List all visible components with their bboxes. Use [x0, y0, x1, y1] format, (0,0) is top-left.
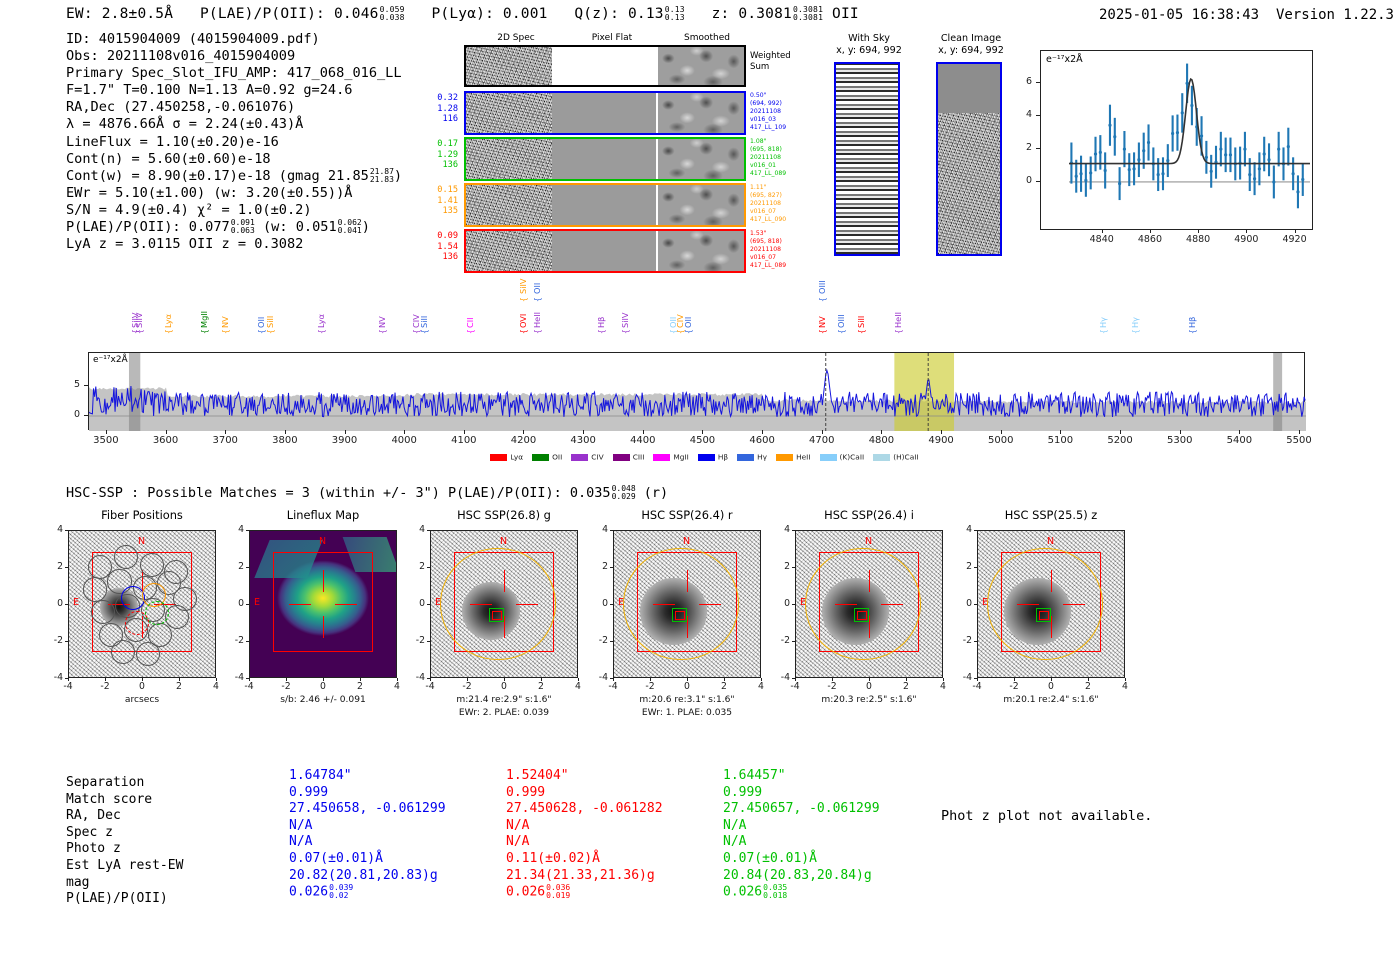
match-value: 0.07(±0.01)Å [289, 851, 446, 868]
match-plae-row: 0.0260.0360.019 [506, 884, 663, 901]
spec-xtick-label: 4200 [501, 435, 545, 446]
match-value: 0.999 [289, 785, 446, 802]
compass-east-label: E [982, 597, 988, 608]
hsc-header-post: (r) [644, 485, 668, 501]
compass-east-label: E [73, 597, 79, 608]
thumb-xtick-label: 4 [932, 681, 954, 692]
thumb-ytick [610, 678, 613, 679]
spec-xtick [702, 430, 703, 434]
spectrum-line-label: CII [465, 286, 475, 328]
lp-ytick [1036, 181, 1040, 182]
lp-ytick-label: 6 [1014, 76, 1032, 87]
thumb-xtick-label: -2 [1003, 681, 1025, 692]
spec-xtick-label: 4600 [740, 435, 784, 446]
fiber-meta: v016_03 [750, 116, 810, 124]
info-plae-lo: 0.063 [231, 227, 255, 235]
fiber-meta: v016_07 [750, 254, 810, 262]
match-value: 27.450628, -0.061282 [506, 801, 663, 818]
spectrum-line-bracket: { [135, 329, 144, 334]
spectrum-line-bracket: { [818, 297, 827, 302]
thumb-xtick-label: 4 [386, 681, 408, 692]
lp-xtick [1295, 229, 1296, 233]
spec-xtick [404, 430, 405, 434]
fiber-stat: 136 [398, 252, 458, 263]
thumb-ytick [792, 567, 795, 568]
spectrum-units: e⁻¹⁷x2Å [93, 355, 128, 365]
spec-ytick [84, 385, 88, 386]
spec-xtick-label: 5300 [1158, 435, 1202, 446]
spectrum-line-bracket: { [533, 297, 542, 302]
spec-xtick [1060, 430, 1061, 434]
spectrum-line-bracket: { [1131, 329, 1140, 334]
lp-ytick [1036, 148, 1040, 149]
info-cont-w-pre: Cont(w) = 8.90(±0.17)e-18 (gmag 21.85 [66, 168, 369, 184]
fiber-stat: 1.41 [398, 196, 458, 207]
thumb-ytick [610, 530, 613, 531]
fiber-row-pixelflat [552, 185, 656, 225]
thumb-title-3: HSC SSP(26.4) r [591, 508, 783, 522]
thumb-ytick [246, 678, 249, 679]
thumb-xtick-label: -2 [275, 681, 297, 692]
match-plae-row: 0.0260.0350.018 [723, 884, 880, 901]
match-value: 21.34(21.33,21.36)g [506, 868, 663, 885]
spectrum-line-label: SiII [265, 286, 275, 328]
spectrum-line-bracket: { [519, 329, 528, 334]
line-profile-plot: e⁻¹⁷x2Å [1040, 50, 1313, 230]
fiber-meta: 20211108 [750, 108, 810, 116]
spectrum-line-label: OII [683, 286, 693, 328]
thumb-ytick [427, 641, 430, 642]
thumb-ytick-label: 2 [771, 561, 790, 572]
match-plae-row: 0.0260.0390.02 [289, 884, 446, 901]
legend-swatch [737, 454, 754, 461]
fiber-meta: 417_LL_090 [750, 216, 810, 224]
match-value: 27.450657, -0.061299 [723, 801, 880, 818]
match-row-label: Photo z [66, 841, 121, 858]
fiber-stat: 1.54 [398, 242, 458, 253]
spec-xtick-label: 5000 [979, 435, 1023, 446]
match-value: N/A [506, 834, 663, 851]
thumb-ytick-label: 2 [225, 561, 244, 572]
thumb-ytick [65, 641, 68, 642]
thumb-title-0: Fiber Positions [46, 508, 238, 522]
thumb-caption2-2: EWr: 2. PLAE: 0.039 [404, 708, 604, 718]
timestamp: 2025-01-05 16:38:43 [1099, 7, 1259, 23]
info-plae-pre: P(LAE)/P(OII): 0.077 [66, 219, 230, 235]
thumb-ytick [427, 678, 430, 679]
thumb-caption1-1: s/b: 2.46 +/- 0.091 [223, 695, 423, 705]
lp-xtick [1246, 229, 1247, 233]
match-marker-red [1039, 611, 1049, 620]
spec-xtick [166, 430, 167, 434]
spectrum-line-label: MgII [199, 286, 209, 328]
thumb-ytick-label: -4 [953, 672, 972, 683]
aperture-ellipse [987, 548, 1102, 660]
thumb-ytick-label: 2 [44, 561, 63, 572]
fiber-row-smoothed [658, 185, 744, 225]
thumb-ytick [792, 641, 795, 642]
compass-north-label: N [1047, 536, 1054, 547]
legend-swatch [873, 454, 890, 461]
spectrum-line-label: Hβ [596, 286, 606, 328]
fiber-meta: (694, 992) [750, 100, 810, 108]
thumb-caption1-4: m:20.3 re:2.5" s:1.6" [769, 695, 969, 705]
fiber-row-left-stats-0: 0.321.28116 [398, 93, 458, 125]
spectrum-line-label: NV [377, 286, 387, 328]
spectrum-line-bracket: { [837, 329, 846, 334]
compass-north-label: N [138, 536, 145, 547]
thumb-ytick [974, 530, 977, 531]
fiber-meta: 1.08" [750, 138, 810, 146]
full-spectrum-plot: e⁻¹⁷x2Å [88, 352, 1305, 430]
lp-ytick-label: 0 [1014, 175, 1032, 186]
thumb-title-2: HSC SSP(26.8) g [408, 508, 600, 522]
thumb-xtick-label: 0 [676, 681, 698, 692]
match-value: 1.64784" [289, 768, 446, 785]
thumb-ytick-label: 0 [406, 598, 425, 609]
thumb-ytick-label: 2 [953, 561, 972, 572]
lp-xtick [1150, 229, 1151, 233]
match-plae-lo: 0.018 [763, 892, 787, 900]
header-z-species: OII [832, 6, 859, 22]
spectrum-line-label: SiIV [620, 286, 630, 328]
lp-ytick-label: 4 [1014, 109, 1032, 120]
header-qz-label: Q(z): [574, 6, 619, 22]
spec-xtick [285, 430, 286, 434]
thumb-title-5: HSC SSP(25.5) z [955, 508, 1147, 522]
thumb-xtick-label: -2 [821, 681, 843, 692]
aperture-ellipse [440, 548, 555, 660]
info-lineflux: LineFlux = 1.10(±0.20)e-16 [66, 134, 402, 151]
fiber-circle [83, 577, 107, 601]
info-plae: P(LAE)/P(OII): 0.0770.0910.063 (w: 0.051… [66, 219, 402, 236]
fiber-row-3 [464, 229, 746, 273]
header-z-label: z: [712, 6, 730, 22]
match-row-label: P(LAE)/P(OII) [66, 891, 168, 908]
match-value: 20.84(20.83,20.84)g [723, 868, 880, 885]
info-plae-mid: (w: 0.051 [263, 219, 337, 235]
match-value: 27.450658, -0.061299 [289, 801, 446, 818]
fiber-meta: 0.50" [750, 92, 810, 100]
match-marker-red [675, 611, 685, 620]
thumb-ytick [610, 604, 613, 605]
fiber-meta: 417_LL_089 [750, 170, 810, 178]
spec-xtick-label: 3900 [323, 435, 367, 446]
match-column-2: 1.64457"0.99927.450657, -0.061299N/AN/A0… [723, 768, 880, 901]
info-plae-post: ) [362, 219, 370, 235]
thumb-ytick [246, 604, 249, 605]
thumb-ytick-label: -2 [44, 635, 63, 646]
info-id: ID: 4015904009 (4015904009.pdf) [66, 31, 402, 48]
spec-xtick [762, 430, 763, 434]
match-marker-red [492, 611, 502, 620]
legend-label: OII [552, 453, 562, 462]
thumb-ytick-label: 4 [771, 524, 790, 535]
thumb-crosshair [323, 616, 324, 638]
thumb-ytick-label: 4 [44, 524, 63, 535]
info-redshifts: LyA z = 3.0115 OII z = 0.3082 [66, 236, 402, 253]
hsc-header-pre: HSC-SSP : Possible Matches = 3 (within +… [66, 485, 611, 501]
legend-label: HeII [796, 453, 810, 462]
legend-swatch [698, 454, 715, 461]
with-sky-caption: With Sky x, y: 694, 992 [826, 33, 912, 56]
fiber-stat: 116 [398, 114, 458, 125]
thumb-ytick [974, 604, 977, 605]
info-obs: Obs: 20211108v016_4015904009 [66, 48, 402, 65]
spectrum-line-bracket: { [533, 329, 542, 334]
spectrum-line-label: Lyα [163, 286, 173, 328]
fiber-row-pixelflat [552, 93, 656, 133]
thumb-xtick-label: 4 [567, 681, 589, 692]
legend-label: (H)CaII [893, 453, 918, 462]
thumb-xtick-label: 2 [1077, 681, 1099, 692]
legend-label: CIV [591, 453, 603, 462]
fiber-meta: 1.11" [750, 184, 810, 192]
fiber-stat: 0.32 [398, 93, 458, 104]
thumb-ytick [65, 530, 68, 531]
fiber-meta: 20211108 [750, 246, 810, 254]
fiber-row-left-stats-2: 0.151.41135 [398, 185, 458, 217]
match-value: 0.11(±0.02)Å [506, 851, 663, 868]
thumb-ytick [246, 567, 249, 568]
spectrum-line-bracket: { [378, 329, 387, 334]
spectrum-line-label: SiIV [134, 286, 144, 328]
match-plae: 0.026 [506, 885, 545, 900]
thumb-ytick [974, 678, 977, 679]
spectrum-line-bracket: { [466, 329, 475, 334]
match-value: N/A [506, 818, 663, 835]
spec-xtick [583, 430, 584, 434]
thumb-ytick-label: -4 [225, 672, 244, 683]
spectrum-line-label: OIII [836, 286, 846, 328]
legend-swatch [653, 454, 670, 461]
spectrum-line-bracket: { [266, 329, 275, 334]
thumb-xtick-label: -2 [639, 681, 661, 692]
thumb-xtick-label: 0 [131, 681, 153, 692]
header-plae-lo: 0.038 [380, 14, 405, 22]
header-summary-line: EW: 2.8±0.5Å P(LAE)/P(OII): 0.0460.0590.… [66, 6, 859, 22]
lp-ytick [1036, 115, 1040, 116]
spectrum-line-bracket: { [257, 329, 266, 334]
fiber-meta: 1.53" [750, 230, 810, 238]
spectrum-line-label: OII [532, 252, 542, 294]
match-value: N/A [289, 834, 446, 851]
spectrum-line-label: Lyα [316, 286, 326, 328]
match-value: 1.64457" [723, 768, 880, 785]
fiber-row-pixelflat [552, 231, 656, 271]
spectrum-line-bracket: { [317, 329, 326, 334]
spec-xtick-label: 4400 [621, 435, 665, 446]
spec-xtick [881, 430, 882, 434]
spectrum-legend: LyαOIICIVCIIIMgIIHβHγHeII(K)CaII(H)CaII [0, 452, 1400, 462]
fiber-stat: 0.15 [398, 185, 458, 196]
compass-east-label: E [618, 597, 624, 608]
legend-label: Hβ [718, 453, 728, 462]
photz-note: Phot z plot not available. [941, 808, 1152, 824]
thumb-xtick-label: 4 [750, 681, 772, 692]
smoothed-title: Smoothed [662, 33, 752, 43]
match-row-label: mag [66, 875, 89, 892]
thumb-ytick [974, 641, 977, 642]
fiber-row-pixelflat [552, 139, 656, 179]
compass-north-label: N [319, 536, 326, 547]
legend-label: (K)CaII [840, 453, 865, 462]
spectrum-line-label: Hγ [1098, 286, 1108, 328]
thumb-ytick [792, 530, 795, 531]
match-plae-lo: 0.019 [546, 892, 570, 900]
compass-east-label: E [435, 597, 441, 608]
clean-image-caption: Clean Image x, y: 694, 992 [922, 33, 1020, 56]
spectrum-line-label: SiIV [518, 252, 528, 294]
thumb-ytick [974, 567, 977, 568]
thumb-ytick [427, 604, 430, 605]
header-plae-label: P(LAE)/P(OII): [200, 6, 325, 22]
thumb-ytick [792, 604, 795, 605]
header-z-value: 0.3081 [738, 6, 792, 22]
spec-xtick [1120, 430, 1121, 434]
clean-image-coords: x, y: 694, 992 [922, 45, 1020, 57]
legend-label: CIII [633, 453, 645, 462]
fiber-row-right-meta-0: 0.50"(694, 992)20211108v016_03417_LL_109 [750, 92, 810, 132]
compass-east-label: E [254, 597, 260, 608]
fiber-row-smoothed [658, 139, 744, 179]
legend-swatch [613, 454, 630, 461]
header-z-lo: 0.3081 [793, 14, 823, 22]
header-qz-value: 0.13 [628, 6, 664, 22]
thumb-ytick-label: -2 [406, 635, 425, 646]
lp-xtick-label: 4840 [1084, 234, 1120, 245]
info-primary-slot: Primary Spec_Slot_IFU_AMP: 417_068_016_L… [66, 65, 402, 82]
thumb-xtick-label: -2 [456, 681, 478, 692]
match-plae-lo: 0.02 [329, 892, 353, 900]
thumb-caption2-3: EWr: 1. PLAE: 0.035 [587, 708, 787, 718]
info-ewr: EWr = 5.10(±1.00) (w: 3.20(±0.55))Å [66, 185, 402, 202]
spec-xtick-label: 5100 [1038, 435, 1082, 446]
thumb-ytick [610, 641, 613, 642]
lp-xtick [1198, 229, 1199, 233]
spectrum-line-bracket: { [621, 329, 630, 334]
lp-xtick-label: 4880 [1180, 234, 1216, 245]
with-sky-coords: x, y: 694, 992 [826, 45, 912, 57]
fiber-stat: 0.17 [398, 139, 458, 150]
fiber-row-1 [464, 137, 746, 181]
spec-xtick [106, 430, 107, 434]
match-row-label: Separation [66, 775, 144, 792]
twod-spec-panel-group: 2D Spec Pixel Flat Smoothed Weighted Sum… [432, 33, 782, 258]
thumb-ytick-label: 4 [225, 524, 244, 535]
fiber-row-2 [464, 183, 746, 227]
spec-xtick [941, 430, 942, 434]
fiber-meta: 417_LL_109 [750, 124, 810, 132]
spec-xtick-label: 5500 [1277, 435, 1321, 446]
thumb-ytick-label: -2 [589, 635, 608, 646]
thumb-ytick-label: 0 [589, 598, 608, 609]
pixel-flat-title: Pixel Flat [572, 33, 652, 43]
match-value: 0.999 [723, 785, 880, 802]
spec-ytick-label: 0 [62, 409, 80, 420]
thumb-xtick-label: 2 [168, 681, 190, 692]
spec-xtick-label: 3600 [144, 435, 188, 446]
fiber-row-right-meta-2: 1.11"(695, 827)20211108v016_07417_LL_090 [750, 184, 810, 224]
header-qz-lo: 0.13 [665, 14, 685, 22]
thumb-ytick-label: 0 [953, 598, 972, 609]
match-value: 1.52404" [506, 768, 663, 785]
thumb-ytick-label: 4 [589, 524, 608, 535]
thumb-xtick-label: 0 [312, 681, 334, 692]
spec-xtick-label: 4800 [859, 435, 903, 446]
thumb-ytick [246, 641, 249, 642]
lp-ytick [1036, 82, 1040, 83]
fiber-row-2dspec [466, 93, 552, 133]
spectrum-line-bracket: { [519, 297, 528, 302]
match-column-0: 1.64784"0.99927.450658, -0.061299N/AN/A0… [289, 768, 446, 901]
thumb-ytick-label: 4 [406, 524, 425, 535]
spec-ytick-label: 5 [62, 379, 80, 390]
fiber-row-2dspec [466, 185, 552, 225]
match-value: N/A [723, 818, 880, 835]
spec-xtick-label: 4500 [680, 435, 724, 446]
match-value: N/A [289, 818, 446, 835]
spectrum-line-bracket: { [221, 329, 230, 334]
hsc-header-lo: 0.029 [612, 493, 636, 501]
thumb-caption1-3: m:20.6 re:3.1" s:1.6" [587, 695, 787, 705]
header-timestamp-version: 2025-01-05 16:38:43 Version 1.22.3 [1099, 7, 1394, 23]
hsc-ssp-header: HSC-SSP : Possible Matches = 3 (within +… [66, 485, 668, 501]
thumb-crosshair [323, 570, 324, 592]
thumb-caption1-2: m:21.4 re:2.9" s:1.6" [404, 695, 604, 705]
spectrum-line-bracket: { [894, 329, 903, 334]
info-lambda-sigma: λ = 4876.66Å σ = 2.24(±0.43)Å [66, 116, 402, 133]
compass-north-label: N [500, 536, 507, 547]
thumb-title-4: HSC SSP(26.4) i [773, 508, 965, 522]
thumb-crosshair [335, 604, 357, 605]
thumb-title-1: Lineflux Map [227, 508, 419, 522]
lp-xtick-label: 4900 [1228, 234, 1264, 245]
clean-image-title: Clean Image [922, 33, 1020, 45]
thumb-crosshair [289, 604, 311, 605]
spectrum-line-bracket: { [200, 329, 209, 334]
weighted-sum-row [464, 45, 746, 87]
thumb-ytick-label: -2 [225, 635, 244, 646]
spec-xtick [1001, 430, 1002, 434]
thumb-ytick-label: -4 [589, 672, 608, 683]
fiber-row-left-stats-3: 0.091.54136 [398, 231, 458, 263]
spec-xtick [345, 430, 346, 434]
match-marker-red [857, 611, 867, 620]
thumb-ytick-label: 2 [589, 561, 608, 572]
spec-xtick-label: 3700 [203, 435, 247, 446]
legend-swatch [571, 454, 588, 461]
lp-xtick [1102, 229, 1103, 233]
spectrum-line-label: HeII [893, 286, 903, 328]
header-ew: EW: 2.8±0.5Å [66, 6, 173, 22]
header-plae-value: 0.046 [334, 6, 379, 22]
fiber-row-smoothed [658, 231, 744, 271]
match-value: 0.07(±0.01)Å [723, 851, 880, 868]
thumb-ytick-label: 0 [225, 598, 244, 609]
thumb-xtick-label: 2 [713, 681, 735, 692]
twod-spec-title: 2D Spec [476, 33, 556, 43]
thumb-xtick-label: 4 [205, 681, 227, 692]
spec-xtick-label: 5200 [1098, 435, 1142, 446]
spectrum-line-bracket: { [1188, 329, 1197, 334]
thumb-ytick-label: 0 [771, 598, 790, 609]
aperture-ellipse [623, 548, 738, 660]
thumb-xtick-label: 0 [493, 681, 515, 692]
spec-xtick [1180, 430, 1181, 434]
spec-xtick-label: 4100 [442, 435, 486, 446]
spectrum-line-label: NV [220, 286, 230, 328]
